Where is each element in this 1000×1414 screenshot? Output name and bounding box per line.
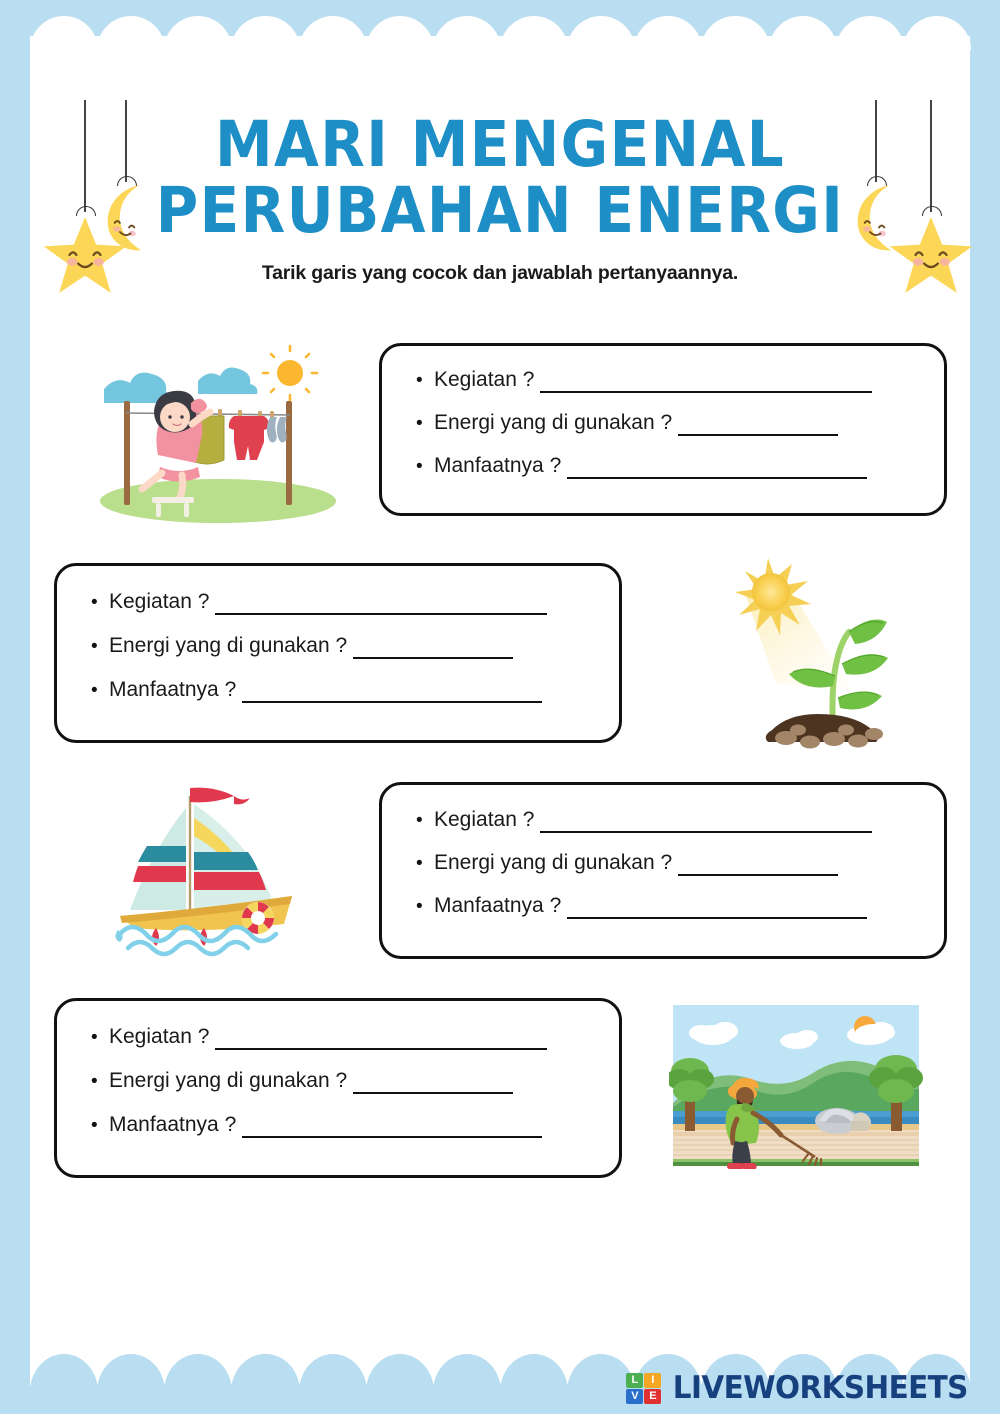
title-line-1: MARI MENGENAL (68, 112, 933, 178)
question-list: • Kegiatan ? • Energi yang di gunakan ? … (57, 566, 619, 702)
question-label: Energi yang di gunakan ? (434, 411, 678, 435)
bullet-icon: • (91, 637, 109, 656)
answer-line[interactable] (678, 434, 838, 436)
question-box-2: • Kegiatan ? • Energi yang di gunakan ? … (54, 563, 622, 743)
question-item: • Manfaatnya ? (91, 1113, 619, 1137)
bullet-icon: • (91, 681, 109, 700)
top-scallop-border (0, 0, 1000, 40)
question-box-1: • Kegiatan ? • Energi yang di gunakan ? … (379, 343, 947, 516)
question-item: • Kegiatan ? (91, 590, 619, 614)
question-item: • Energi yang di gunakan ? (416, 851, 944, 875)
answer-line[interactable] (353, 657, 513, 659)
question-item: • Manfaatnya ? (416, 454, 944, 478)
bullet-icon: • (91, 1028, 109, 1047)
answer-line[interactable] (567, 477, 867, 479)
bullet-icon: • (416, 414, 434, 433)
question-label: Manfaatnya ? (434, 894, 567, 918)
question-label: Kegiatan ? (434, 368, 540, 392)
question-item: • Manfaatnya ? (416, 894, 944, 918)
question-list: • Kegiatan ? • Energi yang di gunakan ? … (57, 1001, 619, 1137)
farmer-raking-field-illustration (669, 999, 923, 1172)
bullet-icon: • (416, 457, 434, 476)
question-label: Manfaatnya ? (109, 678, 242, 702)
question-label: Kegiatan ? (109, 590, 215, 614)
worksheet-page: MARI MENGENAL PERUBAHAN ENERGI Tarik gar… (0, 0, 1000, 1414)
logo-tile-v: V (626, 1389, 643, 1404)
hanging-moon-left (95, 100, 157, 250)
question-item: • Kegiatan ? (416, 808, 944, 832)
logo-tile-i: I (644, 1373, 661, 1388)
question-list: • Kegiatan ? • Energi yang di gunakan ? … (382, 346, 944, 478)
logo-tile-l: L (626, 1373, 643, 1388)
liveworksheets-tiles: L I V E (626, 1373, 661, 1404)
question-box-4: • Kegiatan ? • Energi yang di gunakan ? … (54, 998, 622, 1178)
answer-line[interactable] (353, 1092, 513, 1094)
logo-tile-e: E (644, 1389, 661, 1404)
question-label: Energi yang di gunakan ? (109, 1069, 353, 1093)
girl-hanging-laundry-illustration (78, 345, 360, 525)
answer-line[interactable] (242, 1136, 542, 1138)
sailboat-illustration (108, 778, 313, 966)
question-box-3: • Kegiatan ? • Energi yang di gunakan ? … (379, 782, 947, 959)
question-label: Manfaatnya ? (109, 1113, 242, 1137)
bullet-icon: • (416, 854, 434, 873)
question-item: • Kegiatan ? (91, 1025, 619, 1049)
hanging-star-right (888, 100, 974, 270)
bullet-icon: • (91, 1072, 109, 1091)
title-line-2: PERUBAHAN ENERGI (68, 178, 933, 244)
liveworksheets-wordmark: LIVEWORKSHEETS (673, 1370, 968, 1406)
bullet-icon: • (91, 1116, 109, 1135)
bullet-icon: • (416, 371, 434, 390)
question-item: • Energi yang di gunakan ? (91, 634, 619, 658)
answer-line[interactable] (215, 1048, 547, 1050)
answer-line[interactable] (242, 701, 542, 703)
bullet-icon: • (91, 593, 109, 612)
question-list: • Kegiatan ? • Energi yang di gunakan ? … (382, 785, 944, 918)
question-item: • Kegiatan ? (416, 368, 944, 392)
answer-line[interactable] (540, 831, 872, 833)
answer-line[interactable] (540, 391, 872, 393)
question-label: Kegiatan ? (109, 1025, 215, 1049)
page-title: MARI MENGENAL PERUBAHAN ENERGI Tarik gar… (30, 112, 970, 285)
question-label: Manfaatnya ? (434, 454, 567, 478)
question-item: • Energi yang di gunakan ? (91, 1069, 619, 1093)
bullet-icon: • (416, 811, 434, 830)
bullet-icon: • (416, 897, 434, 916)
question-label: Energi yang di gunakan ? (109, 634, 353, 658)
answer-line[interactable] (215, 613, 547, 615)
instruction-subtitle: Tarik garis yang cocok dan jawablah pert… (30, 262, 970, 285)
answer-line[interactable] (567, 917, 867, 919)
question-label: Kegiatan ? (434, 808, 540, 832)
sprout-growing-in-sunlight-illustration (724, 552, 914, 750)
question-item: • Manfaatnya ? (91, 678, 619, 702)
question-item: • Energi yang di gunakan ? (416, 411, 944, 435)
liveworksheets-logo[interactable]: L I V E LIVEWORKSHEETS (626, 1370, 976, 1406)
question-label: Energi yang di gunakan ? (434, 851, 678, 875)
answer-line[interactable] (678, 874, 838, 876)
